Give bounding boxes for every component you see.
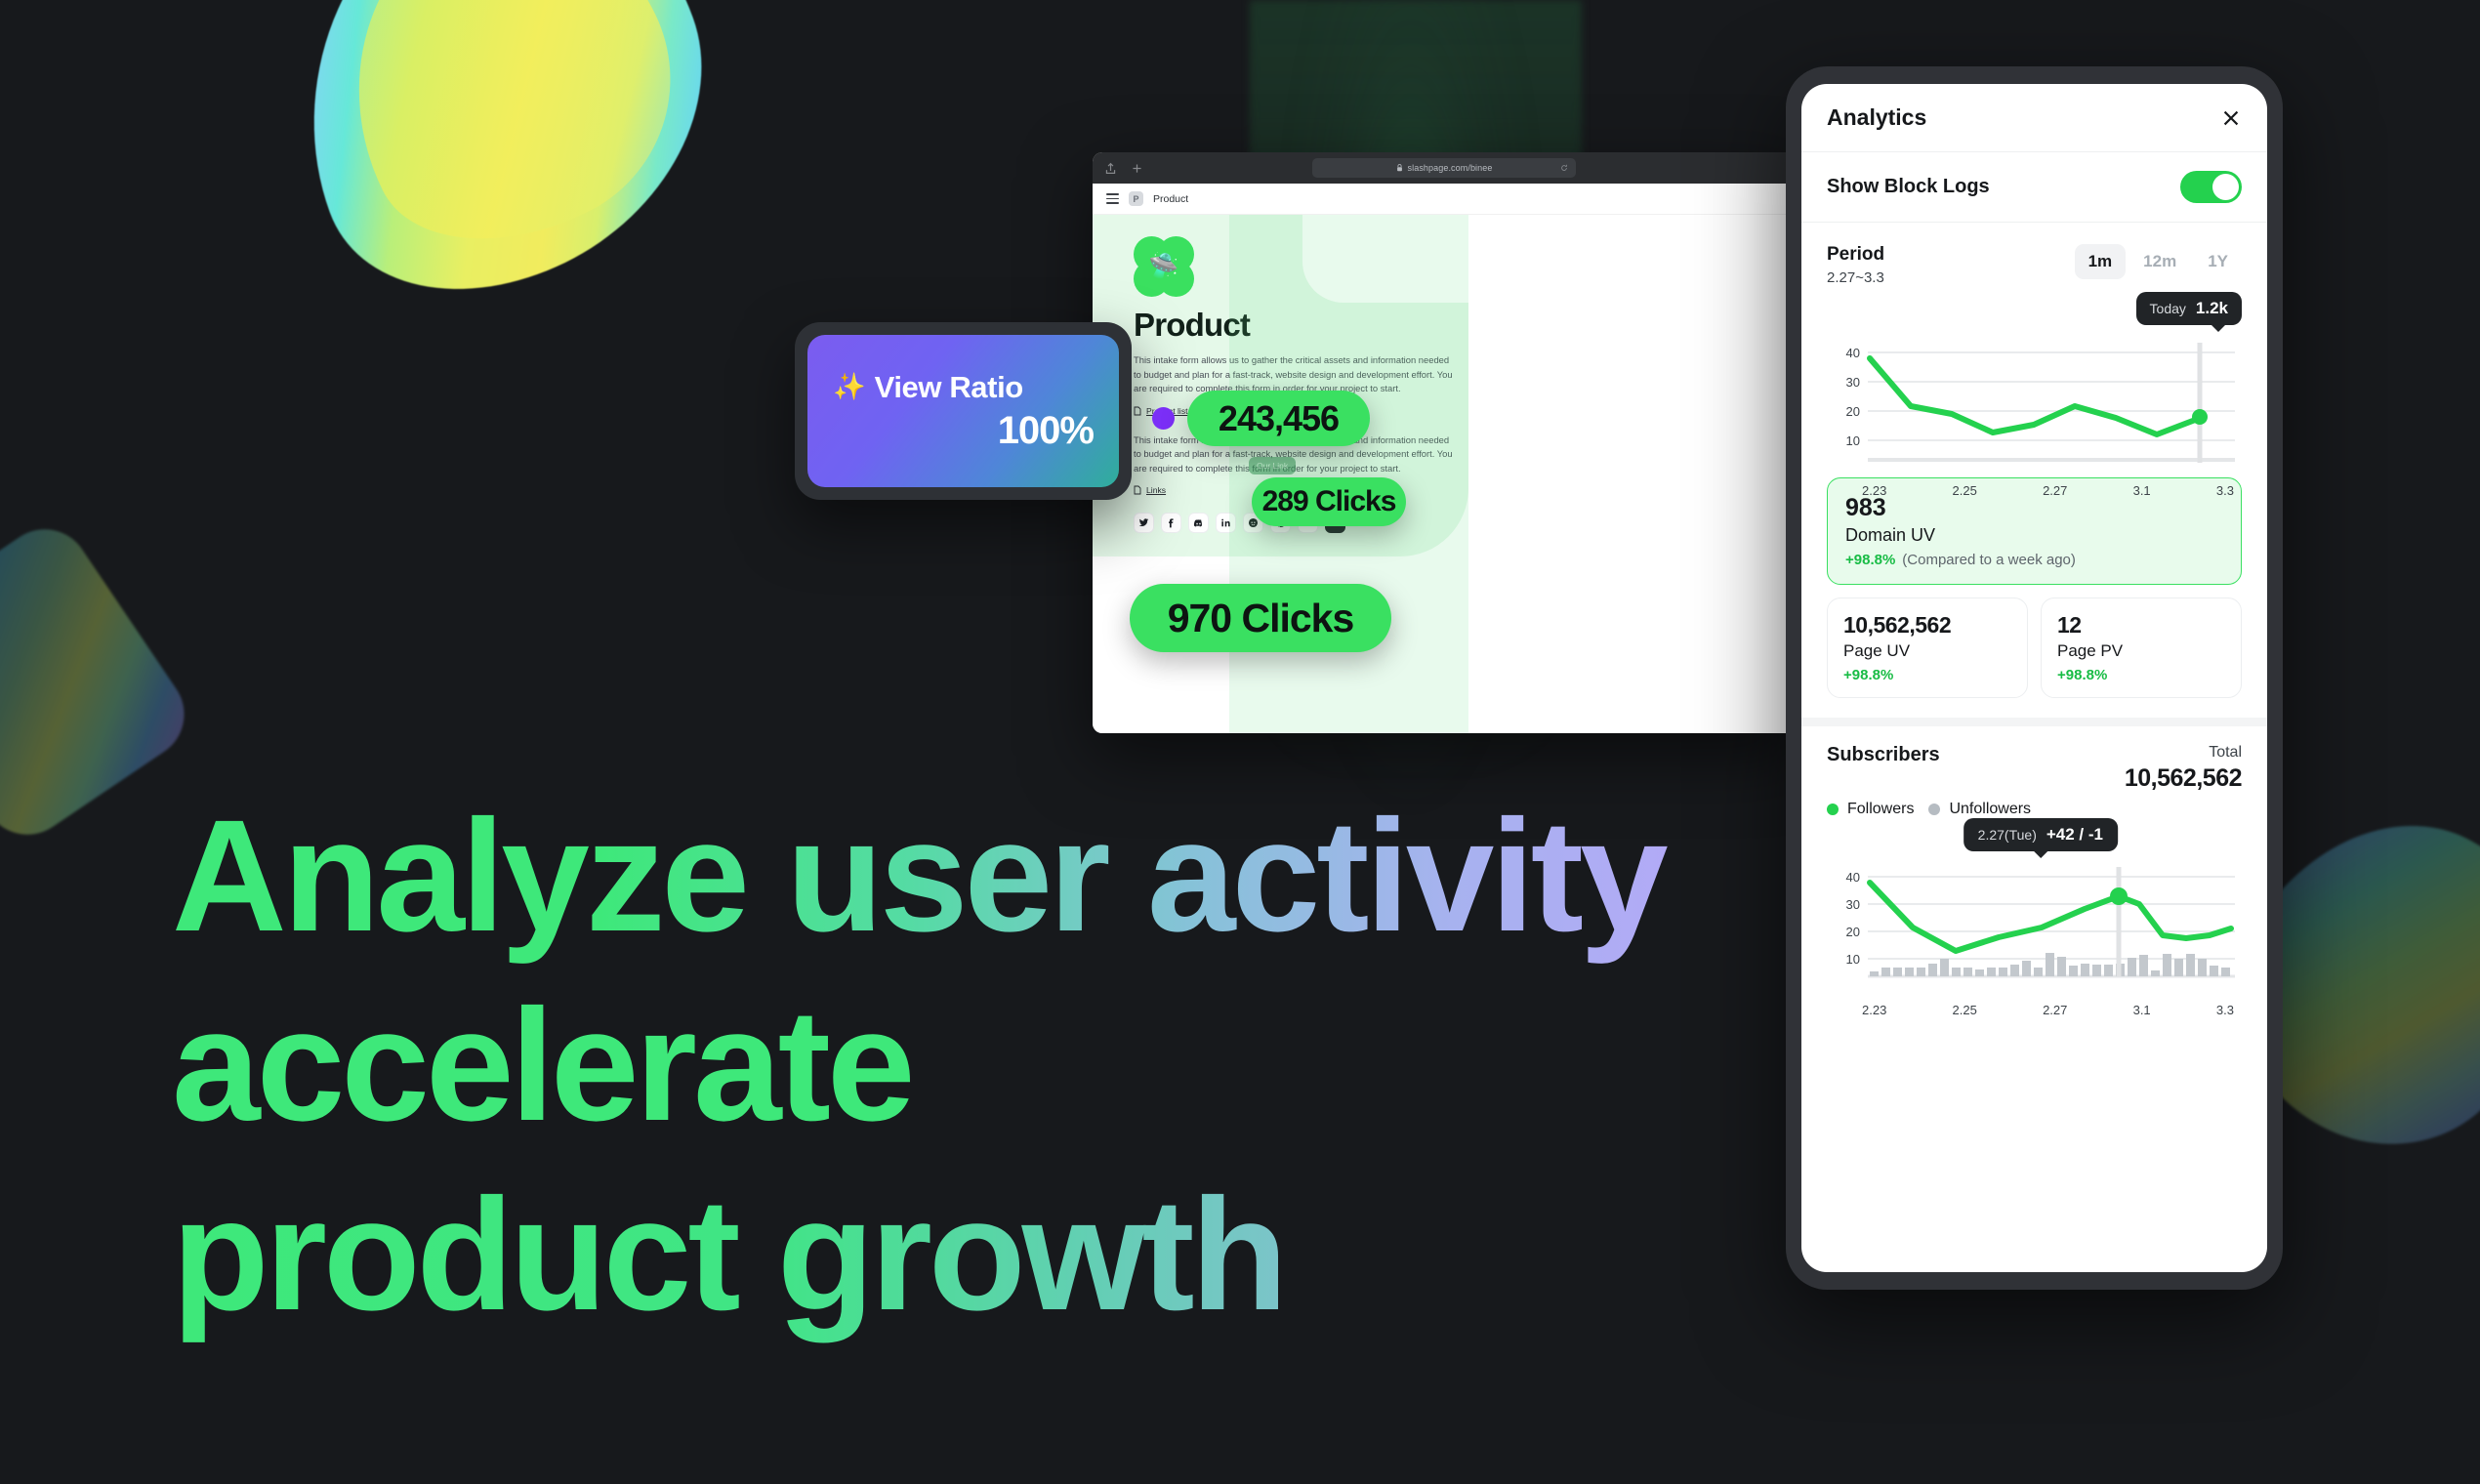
svg-text:30: 30	[1846, 897, 1860, 912]
headline-line-3: product growth	[172, 1160, 1812, 1349]
analytics-title: Analytics	[1827, 104, 1926, 131]
period-info: Period 2.27~3.3	[1827, 244, 1884, 286]
product-page-body: 🛸 Product This intake form allows us to …	[1093, 215, 1796, 733]
subscribers-total-value: 10,562,562	[2125, 764, 2242, 793]
period-label: Period	[1827, 244, 1884, 266]
linkedin-icon[interactable]	[1216, 513, 1236, 533]
domain-uv-value: 983	[1845, 494, 2223, 522]
svg-text:10: 10	[1846, 952, 1860, 967]
page-pv-label: Page PV	[2057, 641, 2225, 661]
url-bar[interactable]: slashpage.com/binee	[1312, 158, 1576, 178]
view-ratio-gradient: ✨ View Ratio 100%	[807, 335, 1119, 487]
period-tabs: 1m 12m 1Y	[2075, 244, 2242, 279]
page-root: slashpage.com/binee P Product 🛸	[0, 0, 2480, 1484]
period-row: Period 2.27~3.3 1m 12m 1Y	[1801, 223, 2267, 286]
analytics-header: Analytics	[1801, 84, 2267, 152]
page-uv-label: Page UV	[1843, 641, 2011, 661]
discord-icon[interactable]	[1188, 513, 1209, 533]
close-icon[interactable]	[2220, 107, 2242, 129]
headline-line-2: accelerate	[172, 970, 1812, 1160]
show-block-logs-row: Show Block Logs	[1801, 152, 2267, 223]
links-link[interactable]: Links	[1134, 485, 1762, 495]
period-range: 2.27~3.3	[1827, 269, 1884, 286]
reload-icon[interactable]	[1560, 164, 1568, 172]
links-link-label: Links	[1146, 485, 1166, 495]
metric-cards: 10,562,562 Page UV +98.8% 12 Page PV +98…	[1827, 598, 2242, 698]
svg-text:30: 30	[1846, 375, 1860, 390]
headline-line-1: Analyze user activity	[172, 781, 1812, 970]
views-chart: Today 1.2k 40 30 20 10	[1801, 286, 2267, 472]
product-description-1: This intake form allows us to gather the…	[1134, 353, 1456, 396]
subscribers-chart: 2.27(Tue) +42 / -1 40 30 20 10	[1801, 818, 2267, 994]
x-tick: 2.23	[1862, 1003, 1886, 1017]
clicks-pill-small: 289 Clicks	[1252, 477, 1406, 526]
show-block-logs-label: Show Block Logs	[1827, 176, 1990, 198]
product-logo: 🛸	[1134, 236, 1194, 297]
holographic-cone-top-highlight-icon	[289, 0, 720, 289]
page-uv-delta: +98.8%	[1843, 667, 2011, 683]
domain-uv-delta: +98.8%	[1845, 552, 1895, 568]
x-tick: 2.27	[2043, 483, 2067, 498]
svg-text:10: 10	[1846, 433, 1860, 448]
file-icon	[1134, 406, 1141, 416]
period-tab-12m[interactable]: 12m	[2129, 244, 2190, 279]
view-ratio-header: ✨ View Ratio	[833, 370, 1094, 405]
subscribers-header: Subscribers Total 10,562,562	[1801, 726, 2267, 793]
site-topbar: P Product	[1093, 184, 1796, 215]
subscribers-total: Total 10,562,562	[2125, 744, 2242, 793]
purple-dot-marker	[1152, 407, 1175, 430]
product-title: Product	[1134, 307, 1762, 344]
svg-text:20: 20	[1846, 404, 1860, 419]
section-divider	[1801, 718, 2267, 726]
subscribers-tooltip-value: +42 / -1	[2046, 825, 2103, 845]
page-pv-value: 12	[2057, 612, 2225, 639]
domain-uv-compare: (Compared to a week ago)	[1902, 552, 2076, 568]
site-badge: P	[1129, 191, 1143, 206]
subscribers-chart-svg: 40 30 20 10	[1827, 867, 2242, 994]
ufo-icon: 🛸	[1148, 253, 1178, 281]
facebook-icon[interactable]	[1161, 513, 1181, 533]
hero-headline: Analyze user activity accelerate product…	[172, 781, 1812, 1349]
followers-legend-dot	[1827, 804, 1839, 815]
site-name: Product	[1153, 193, 1188, 205]
page-uv-card: 10,562,562 Page UV +98.8%	[1827, 598, 2028, 698]
url-text: slashpage.com/binee	[1408, 163, 1493, 173]
followers-legend-label: Followers	[1847, 801, 1914, 818]
subscribers-tooltip: 2.27(Tue) +42 / -1	[1963, 818, 2118, 851]
x-tick: 3.3	[2216, 1003, 2234, 1017]
subscribers-chart-xaxis: 2.23 2.25 2.27 3.1 3.3	[1827, 999, 2242, 1017]
subscribers-legend: Followers Unfollowers	[1801, 793, 2267, 818]
svg-text:20: 20	[1846, 925, 1860, 939]
x-tick: 2.25	[1953, 1003, 1977, 1017]
page-pv-card: 12 Page PV +98.8%	[2041, 598, 2242, 698]
phone-frame: Analytics Show Block Logs Period 2.27~3.…	[1786, 66, 2283, 1290]
unfollowers-legend-label: Unfollowers	[1949, 801, 2031, 818]
our-link-tag: Our Link	[1249, 457, 1296, 474]
sparkle-icon: ✨	[833, 374, 866, 400]
today-tooltip-label: Today	[2150, 301, 2186, 316]
period-tab-1y[interactable]: 1Y	[2194, 244, 2242, 279]
hamburger-icon[interactable]	[1106, 193, 1119, 203]
x-tick: 2.23	[1862, 483, 1886, 498]
holographic-cone-top-icon	[246, 0, 749, 352]
social-links-row	[1134, 513, 1762, 533]
unfollowers-legend-dot	[1928, 804, 1940, 815]
page-uv-value: 10,562,562	[1843, 612, 2011, 639]
x-tick: 3.1	[2133, 483, 2151, 498]
period-tab-1m[interactable]: 1m	[2075, 244, 2127, 279]
page-pv-delta: +98.8%	[2057, 667, 2225, 683]
show-block-logs-toggle[interactable]	[2180, 171, 2242, 203]
domain-uv-delta-row: +98.8% (Compared to a week ago)	[1845, 552, 2223, 568]
svg-text:40: 40	[1846, 346, 1860, 360]
today-tooltip-value: 1.2k	[2196, 299, 2228, 318]
views-pill: 243,456	[1187, 391, 1370, 446]
clicks-pill-large: 970 Clicks	[1130, 584, 1391, 652]
subscribers-tooltip-date: 2.27(Tue)	[1978, 827, 2037, 843]
x-tick: 3.1	[2133, 1003, 2151, 1017]
share-icon[interactable]	[1104, 162, 1117, 175]
twitter-icon[interactable]	[1134, 513, 1154, 533]
subscribers-title: Subscribers	[1827, 744, 1940, 766]
x-tick: 2.25	[1953, 483, 1977, 498]
plus-icon[interactable]	[1131, 162, 1143, 175]
analytics-panel: Analytics Show Block Logs Period 2.27~3.…	[1801, 84, 2267, 1272]
view-ratio-label: View Ratio	[875, 370, 1023, 405]
browser-chrome: slashpage.com/binee	[1093, 152, 1796, 184]
view-ratio-card: ✨ View Ratio 100%	[795, 322, 1132, 500]
domain-uv-label: Domain UV	[1845, 525, 2223, 546]
x-tick: 2.27	[2043, 1003, 2067, 1017]
views-chart-xaxis: 2.23 2.25 2.27 3.1 3.3	[1827, 479, 2242, 498]
svg-text:40: 40	[1846, 870, 1860, 885]
today-tooltip: Today 1.2k	[2136, 292, 2242, 325]
x-tick: 3.3	[2216, 483, 2234, 498]
file-icon	[1134, 485, 1141, 495]
product-page-content: 🛸 Product This intake form allows us to …	[1093, 215, 1796, 533]
lock-icon	[1396, 164, 1403, 172]
view-ratio-value: 100%	[833, 409, 1094, 453]
views-chart-svg: 40 30 20 10	[1827, 343, 2242, 474]
subscribers-total-label: Total	[2125, 744, 2242, 762]
